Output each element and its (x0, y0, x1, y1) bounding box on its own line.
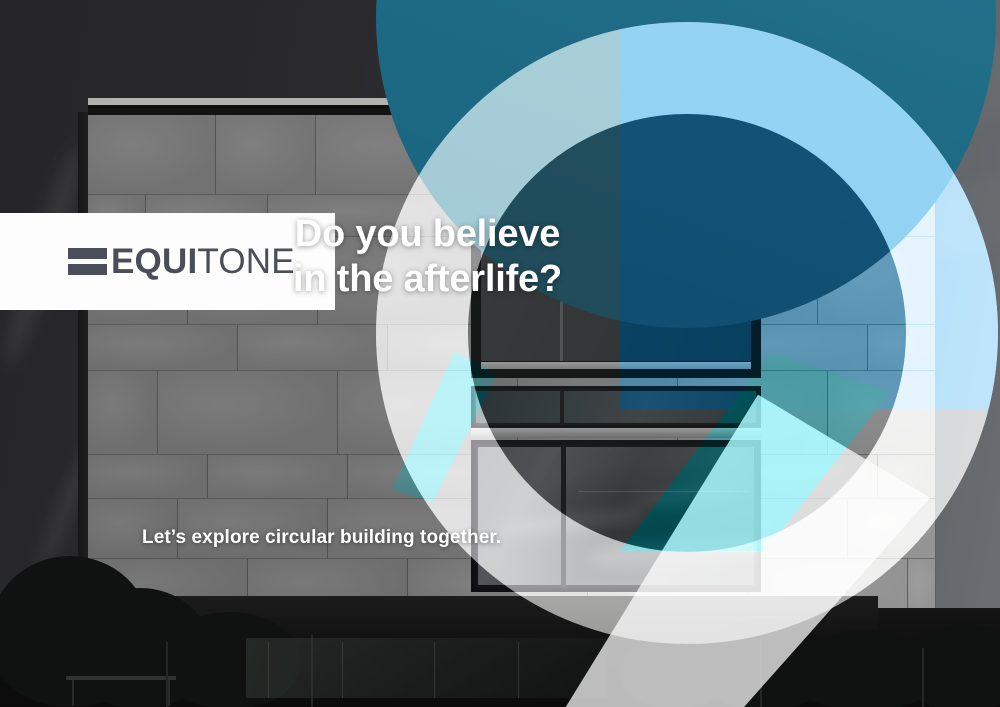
advertisement-canvas: EQUITONE Do you believe in the afterlife… (0, 0, 1000, 707)
headline-line-1: Do you believe (0, 212, 855, 257)
color-pass-layer (0, 0, 1000, 707)
blue-sky-color-region (620, 0, 1000, 410)
tagline: Let’s explore circular building together… (142, 527, 501, 549)
headline: Do you believe in the afterlife? (0, 212, 1000, 302)
headline-line-2: in the afterlife? (0, 257, 855, 302)
teal-glass-color-region (392, 352, 512, 502)
